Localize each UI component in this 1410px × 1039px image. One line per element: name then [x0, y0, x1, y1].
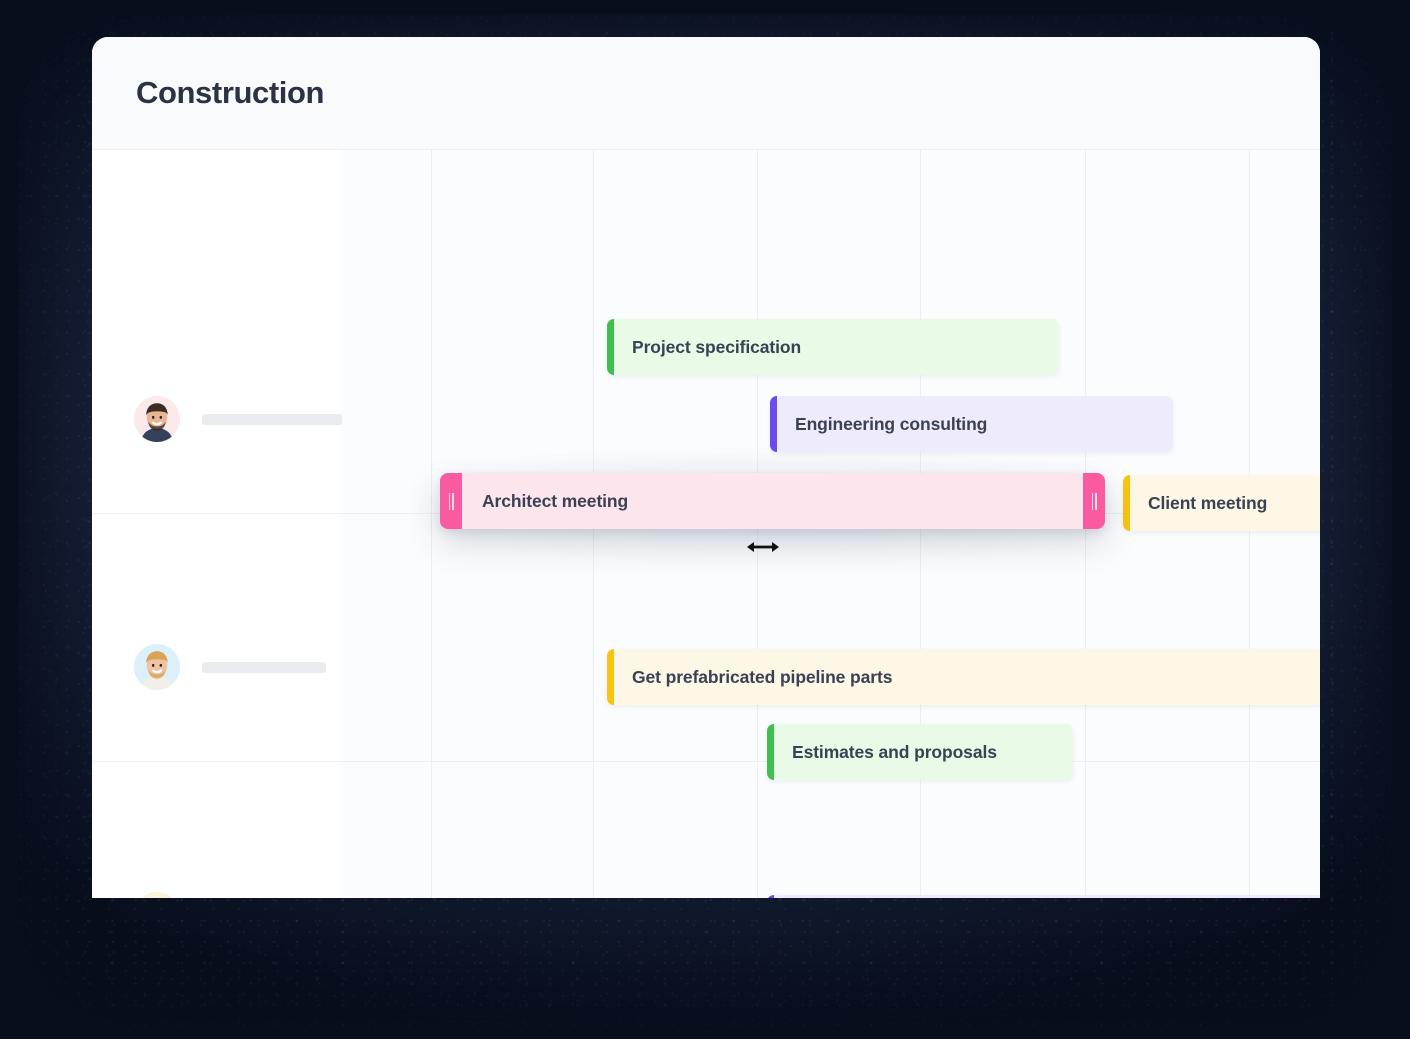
task-accent-stripe: [1123, 475, 1130, 531]
gantt-task-bar[interactable]: Architect meeting: [440, 473, 1105, 529]
avatar-team-member-1[interactable]: [134, 396, 180, 442]
task-label: Project specification: [614, 337, 801, 358]
gantt-task-bar[interactable]: Heavy equipment repair: [767, 895, 1320, 898]
task-accent-stripe: [770, 396, 777, 452]
row-name-placeholder: [202, 662, 326, 673]
task-label: Client meeting: [1130, 493, 1267, 514]
avatar-team-member-2[interactable]: [134, 644, 180, 690]
task-resize-handle-right[interactable]: [1083, 473, 1105, 529]
gantt-task-bar[interactable]: Client meeting: [1123, 475, 1320, 531]
gantt-row-2-meta: [134, 644, 326, 690]
gantt-name-column: [92, 150, 340, 898]
grid-column-line-0: [431, 150, 432, 898]
card-header: Construction: [92, 37, 1320, 150]
gantt-row-1-meta: [134, 396, 342, 442]
task-label: Estimates and proposals: [774, 742, 997, 763]
avatar-team-member-3[interactable]: [134, 892, 180, 898]
task-label: Engineering consulting: [777, 414, 987, 435]
gantt-chart[interactable]: Project specificationEngineering consult…: [92, 150, 1320, 898]
gantt-task-bar[interactable]: Get prefabricated pipeline parts: [607, 649, 1320, 705]
gantt-row-divider-1: [92, 761, 1320, 762]
screenshot-stage: Construction Project specificationEngine…: [0, 0, 1410, 1039]
task-label: Architect meeting: [462, 491, 628, 512]
horizontal-resize-cursor: [746, 539, 780, 555]
project-card: Construction Project specificationEngine…: [92, 37, 1320, 898]
page-title: Construction: [136, 75, 324, 111]
task-label: Get prefabricated pipeline parts: [614, 667, 892, 688]
task-accent-stripe: [607, 649, 614, 705]
gantt-task-bar[interactable]: Estimates and proposals: [767, 724, 1073, 780]
task-accent-stripe: [767, 724, 774, 780]
gantt-task-bar[interactable]: Project specification: [607, 319, 1059, 375]
task-resize-handle-left[interactable]: [440, 473, 462, 529]
gantt-row-3-meta: [134, 892, 312, 898]
task-accent-stripe: [607, 319, 614, 375]
row-name-placeholder: [202, 414, 342, 425]
gantt-task-bar[interactable]: Engineering consulting: [770, 396, 1173, 452]
